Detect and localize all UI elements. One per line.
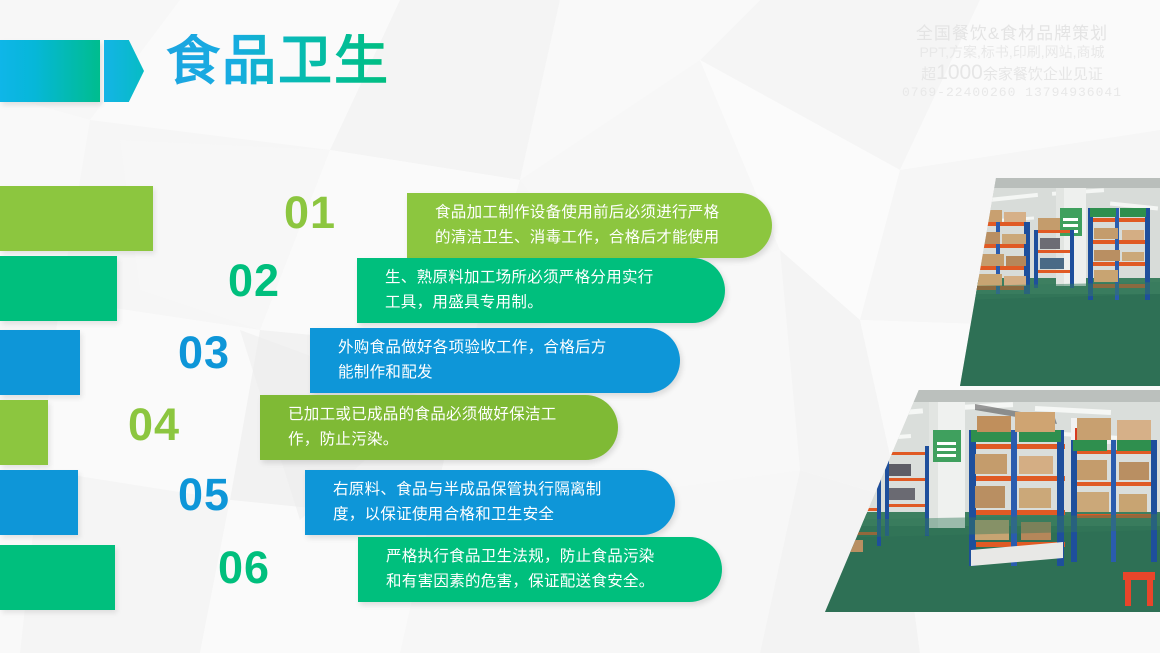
bubble-text-06: 严格执行食品卫生法规，防止食品污染 和有害因素的危害，保证配送食安全。 [386, 545, 655, 593]
item-number-05: 05 [178, 472, 230, 517]
accent-bar-02 [0, 256, 117, 321]
bubble-text-05: 右原料、食品与半成品保管执行隔离制 度，以保证使用合格和卫生安全 [333, 478, 602, 526]
content-bubble-05[interactable]: 右原料、食品与半成品保管执行隔离制 度，以保证使用合格和卫生安全 [305, 470, 675, 535]
item-number-04: 04 [128, 402, 180, 447]
watermark-line-3-prefix: 超 [921, 66, 936, 83]
watermark-line-4: 0769-22400260 13794936041 [878, 85, 1146, 100]
item-number-06: 06 [218, 545, 270, 590]
bubble-text-02: 生、熟原料加工场所必须严格分用实行 工具，用盛具专用制。 [385, 266, 654, 314]
accent-bar-04 [0, 400, 48, 465]
logo-mark [0, 40, 150, 102]
bubble-text-04: 已加工或已成品的食品必须做好保洁工 作，防止污染。 [288, 403, 557, 451]
slide-canvas: 食品卫生 全国餐饮&食材品牌策划 PPT,方案,标书,印刷,网站,商城 超100… [0, 0, 1160, 653]
accent-bar-01 [0, 186, 153, 251]
content-bubble-01[interactable]: 食品加工制作设备使用前后必须进行严格 的清洁卫生、消毒工作，合格后才能使用 [407, 193, 772, 258]
watermark-line-3-number: 1000 [936, 61, 983, 84]
item-number-01: 01 [284, 190, 336, 235]
watermark-line-3: 超1000余家餐饮企业见证 [878, 61, 1146, 86]
accent-bar-03 [0, 330, 80, 395]
logo-arrow-icon [104, 40, 144, 102]
content-bubble-06[interactable]: 严格执行食品卫生法规，防止食品污染 和有害因素的危害，保证配送食安全。 [358, 537, 722, 602]
bubble-text-03: 外购食品做好各项验收工作，合格后方 能制作和配发 [338, 336, 607, 384]
accent-bar-05 [0, 470, 78, 535]
watermark-line-2: PPT,方案,标书,印刷,网站,商城 [878, 44, 1146, 61]
accent-bar-06 [0, 545, 115, 610]
page-title: 食品卫生 [166, 34, 390, 88]
item-number-02: 02 [228, 258, 280, 303]
logo-bar-shape [0, 40, 100, 102]
content-bubble-02[interactable]: 生、熟原料加工场所必须严格分用实行 工具，用盛具专用制。 [357, 258, 725, 323]
bubble-text-01: 食品加工制作设备使用前后必须进行严格 的清洁卫生、消毒工作，合格后才能使用 [435, 201, 719, 249]
watermark-block: 全国餐饮&食材品牌策划 PPT,方案,标书,印刷,网站,商城 超1000余家餐饮… [878, 24, 1146, 101]
watermark-line-1: 全国餐饮&食材品牌策划 [878, 24, 1146, 44]
watermark-line-3-suffix: 余家餐饮企业见证 [983, 66, 1103, 83]
content-bubble-03[interactable]: 外购食品做好各项验收工作，合格后方 能制作和配发 [310, 328, 680, 393]
item-number-03: 03 [178, 330, 230, 375]
content-bubble-04[interactable]: 已加工或已成品的食品必须做好保洁工 作，防止污染。 [260, 395, 618, 460]
